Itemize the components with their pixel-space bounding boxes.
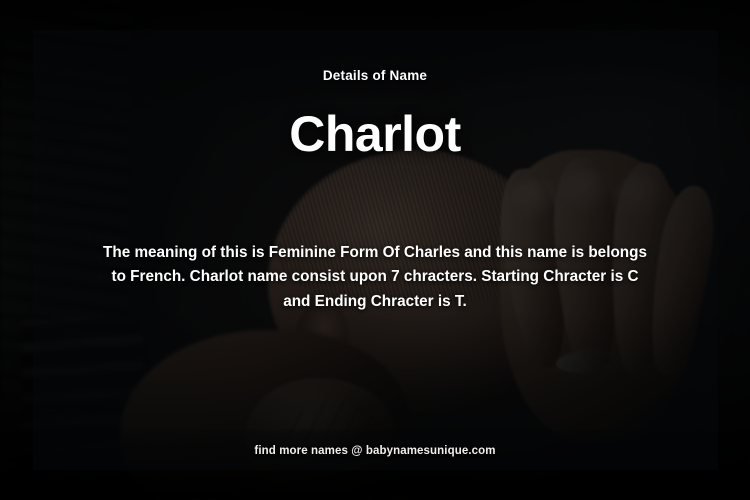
card-content: Details of Name Charlot The meaning of t…: [0, 0, 750, 500]
site-footer-credit: find more names @ babynamesunique.com: [0, 445, 750, 457]
name-detail-card: Details of Name Charlot The meaning of t…: [0, 0, 750, 500]
name-description: The meaning of this is Feminine Form Of …: [103, 241, 648, 315]
baby-name-heading: Charlot: [289, 109, 461, 159]
card-eyebrow-title: Details of Name: [323, 68, 427, 83]
